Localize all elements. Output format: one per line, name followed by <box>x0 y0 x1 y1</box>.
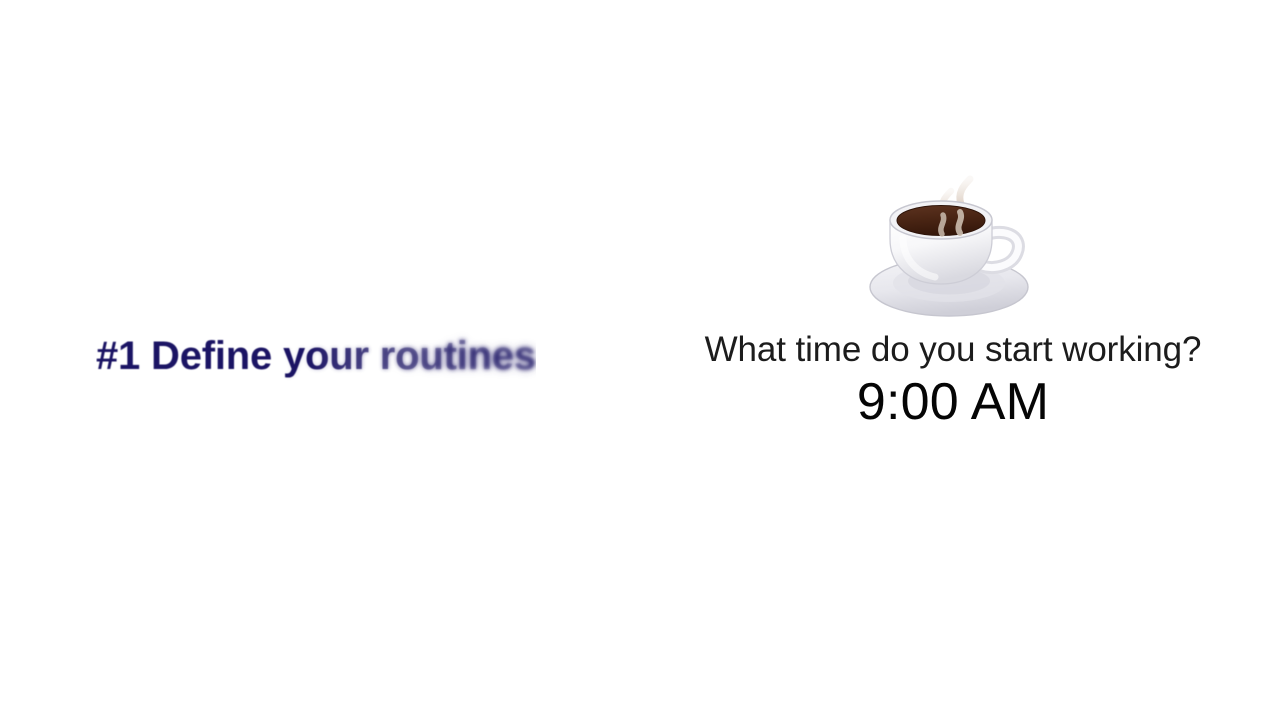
slide-canvas: #1 Define your routines #1 Define your r… <box>0 0 1280 720</box>
question-label: What time do you start working? <box>653 329 1253 371</box>
coffee-cup-icon <box>653 163 1253 321</box>
section-heading: #1 Define your routines #1 Define your r… <box>96 331 656 391</box>
prompt-panel: What time do you start working? 9:00 AM <box>653 163 1253 431</box>
answer-value: 9:00 AM <box>653 373 1253 431</box>
section-heading-ghost-layer: #1 Define your routines <box>96 331 536 381</box>
